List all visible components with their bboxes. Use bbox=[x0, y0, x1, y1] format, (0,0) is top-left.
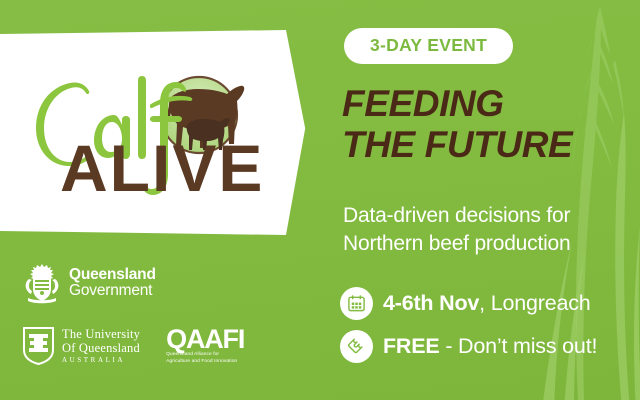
info-strong-price: FREE bbox=[383, 334, 440, 358]
event-info-list: 4-6th Nov, Longreach FREE - Don’t miss o… bbox=[340, 285, 640, 371]
queensland-government-logo: Queensland Government bbox=[22, 262, 292, 304]
qaafi-tagline-line1: Queensland Alliance for bbox=[166, 352, 219, 357]
headline-line1: FEEDING bbox=[342, 83, 640, 124]
uq-line1: The University bbox=[62, 327, 140, 341]
queensland-government-wordmark: Queensland Government bbox=[69, 267, 156, 300]
uq-line2: Of Queensland bbox=[62, 341, 140, 355]
headline: FEEDING THE FUTURE bbox=[342, 83, 640, 166]
event-duration-badge: 3-DAY EVENT bbox=[344, 28, 513, 64]
qld-gov-line2: Government bbox=[69, 283, 156, 299]
university-of-queensland-logo: The University Of Queensland AUSTRALIA bbox=[22, 326, 140, 366]
subheadline: Data-driven decisions for Northern beef … bbox=[343, 202, 635, 257]
qld-gov-line1: Queensland bbox=[69, 267, 156, 283]
sponsor-logos: Queensland Government The University Of … bbox=[22, 262, 292, 366]
info-row-price: FREE - Don’t miss out! bbox=[340, 328, 640, 364]
qaafi-wordmark: QAAFI bbox=[166, 327, 244, 351]
info-strong-date: 4-6th Nov bbox=[383, 291, 479, 315]
subheadline-line1: Data-driven decisions for bbox=[343, 202, 635, 230]
right-content: 3-DAY EVENT FEEDING THE FUTURE Data-driv… bbox=[340, 0, 640, 400]
qaafi-tagline: Queensland Alliance for Agriculture and … bbox=[166, 352, 244, 365]
qaafi-logo: QAAFI Queensland Alliance for Agricultur… bbox=[166, 327, 244, 365]
headline-line2: THE FUTURE bbox=[342, 124, 640, 165]
uq-shield-crest bbox=[22, 326, 55, 366]
info-row-date-location: 4-6th Nov, Longreach bbox=[340, 285, 640, 321]
event-banner: ALIVE bbox=[0, 0, 640, 400]
ticket-icon bbox=[340, 330, 373, 363]
queensland-government-crest bbox=[22, 262, 62, 304]
svg-text:ALIVE: ALIVE bbox=[60, 131, 264, 198]
info-text-date-location: 4-6th Nov, Longreach bbox=[383, 291, 591, 316]
info-rest-price: - Don’t miss out! bbox=[440, 334, 598, 358]
calf-alive-logo: ALIVE bbox=[24, 58, 264, 198]
bottom-logo-row: The University Of Queensland AUSTRALIA Q… bbox=[22, 326, 292, 366]
calendar-icon bbox=[340, 287, 373, 320]
calf-alive-logo-art: ALIVE bbox=[24, 58, 264, 198]
uq-line3: AUSTRALIA bbox=[62, 357, 140, 365]
info-text-price: FREE - Don’t miss out! bbox=[383, 334, 597, 359]
subheadline-line2: Northern beef production bbox=[343, 230, 635, 258]
qaafi-tagline-line2: Agriculture and Food Innovation bbox=[166, 359, 237, 364]
uq-wordmark: The University Of Queensland AUSTRALIA bbox=[62, 327, 140, 365]
info-rest-location: , Longreach bbox=[479, 291, 590, 315]
